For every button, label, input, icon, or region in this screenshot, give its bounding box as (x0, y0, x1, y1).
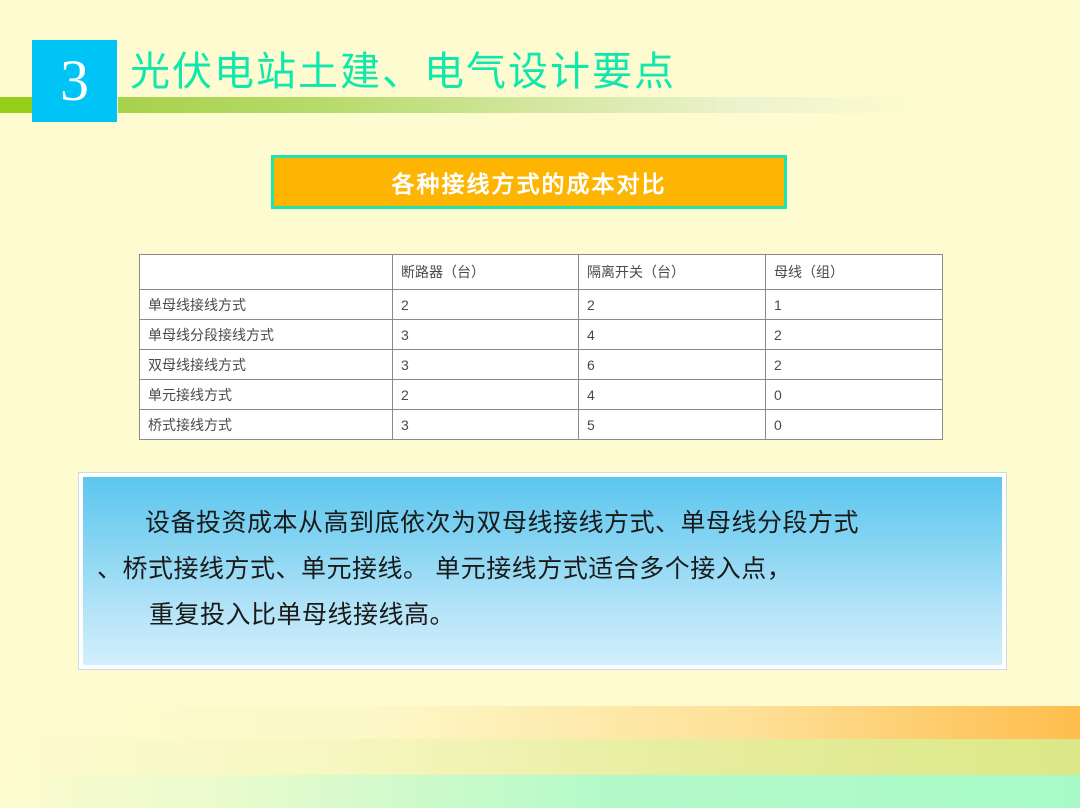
table-cell: 2 (579, 290, 766, 320)
table-cell: 2 (766, 350, 943, 380)
section-title-banner: 各种接线方式的成本对比 (271, 155, 787, 209)
table-header-cell: 断路器（台） (393, 255, 579, 290)
table-cell: 单元接线方式 (140, 380, 393, 410)
table-row: 单元接线方式 2 4 0 (140, 380, 943, 410)
table-cell: 桥式接线方式 (140, 410, 393, 440)
table-cell: 4 (579, 320, 766, 350)
table-cell: 3 (393, 320, 579, 350)
header-accent-bar-left (0, 97, 32, 113)
table-header-row: 断路器（台） 隔离开关（台） 母线（组） (140, 255, 943, 290)
note-line: 重复投入比单母线接线高。 (97, 593, 988, 639)
decorative-band-orange (0, 706, 1080, 739)
note-line: 设备投资成本从高到底依次为双母线接线方式、单母线分段方式 (97, 501, 988, 547)
table-header-cell: 母线（组） (766, 255, 943, 290)
table-header-cell: 隔离开关（台） (579, 255, 766, 290)
header-accent-bar-right (118, 97, 918, 113)
table-row: 双母线接线方式 3 6 2 (140, 350, 943, 380)
section-number-badge: 3 (32, 40, 117, 122)
table-row: 单母线接线方式 2 2 1 (140, 290, 943, 320)
table-cell: 6 (579, 350, 766, 380)
section-title-label: 各种接线方式的成本对比 (392, 165, 667, 199)
page-title: 光伏电站土建、电气设计要点 (130, 40, 676, 96)
table-cell: 0 (766, 410, 943, 440)
table-cell: 3 (393, 410, 579, 440)
cost-comparison-table-wrapper: 断路器（台） 隔离开关（台） 母线（组） 单母线接线方式 2 2 1 单母线分段… (139, 254, 942, 440)
table-cell: 4 (579, 380, 766, 410)
cost-comparison-table: 断路器（台） 隔离开关（台） 母线（组） 单母线接线方式 2 2 1 单母线分段… (139, 254, 943, 440)
slide-canvas: 3 光伏电站土建、电气设计要点 各种接线方式的成本对比 断路器（台） 隔离开关（… (0, 0, 1080, 808)
table-cell: 1 (766, 290, 943, 320)
decorative-band-yellow-green (0, 739, 1080, 775)
table-row: 单母线分段接线方式 3 4 2 (140, 320, 943, 350)
table-cell: 单母线分段接线方式 (140, 320, 393, 350)
table-cell: 5 (579, 410, 766, 440)
table-cell: 3 (393, 350, 579, 380)
table-cell: 双母线接线方式 (140, 350, 393, 380)
conclusion-note-box: 设备投资成本从高到底依次为双母线接线方式、单母线分段方式 、桥式接线方式、单元接… (79, 473, 1006, 669)
table-cell: 2 (766, 320, 943, 350)
note-line: 、桥式接线方式、单元接线。 单元接线方式适合多个接入点， (97, 547, 988, 593)
table-row: 桥式接线方式 3 5 0 (140, 410, 943, 440)
section-number-label: 3 (60, 52, 89, 110)
decorative-band-mint (0, 775, 1080, 808)
table-header-cell (140, 255, 393, 290)
table-cell: 单母线接线方式 (140, 290, 393, 320)
table-cell: 2 (393, 380, 579, 410)
table-cell: 2 (393, 290, 579, 320)
table-cell: 0 (766, 380, 943, 410)
